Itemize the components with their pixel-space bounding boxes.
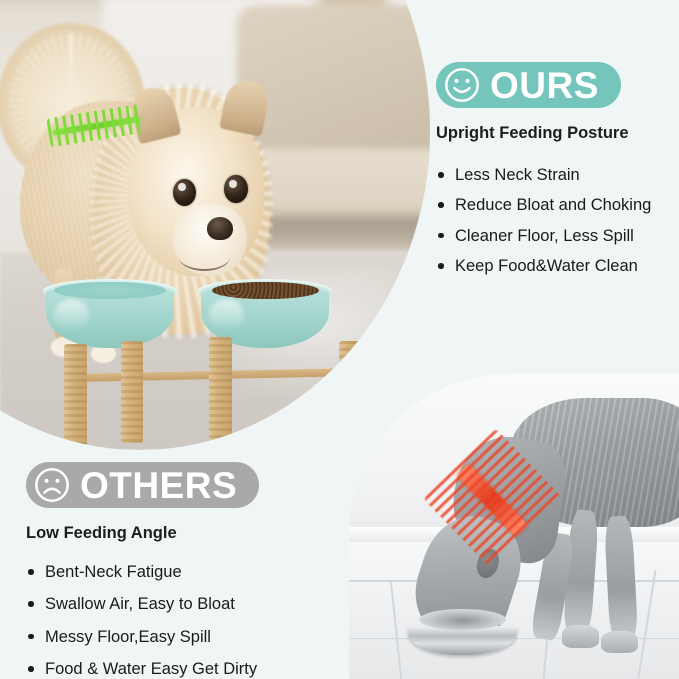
bullet-icon [28, 569, 34, 575]
list-item-label: Bent-Neck Fatigue [45, 563, 182, 581]
ours-badge: OURS [436, 62, 621, 108]
list-item-label: Keep Food&Water Clean [455, 257, 638, 275]
list-item-label: Less Neck Strain [455, 166, 580, 184]
ours-feature-list: Less Neck Strain Reduce Bloat and Chokin… [436, 163, 674, 279]
stand-leg [64, 344, 87, 447]
tile-grout-line [390, 580, 402, 678]
water-bowl [43, 279, 177, 351]
list-item: Swallow Air, Easy to Bloat [26, 592, 356, 616]
list-item-label: Swallow Air, Easy to Bloat [45, 595, 235, 613]
list-item: Cleaner Floor, Less Spill [436, 224, 674, 248]
list-item: Bent-Neck Fatigue [26, 560, 356, 584]
bullet-icon [438, 202, 444, 208]
comparison-infographic: OURS Upright Feeding Posture Less Neck S… [0, 0, 679, 679]
others-text-panel: OTHERS Low Feeding Angle Bent-Neck Fatig… [26, 462, 356, 679]
smiley-face-icon [443, 66, 481, 104]
floor-level-steel-bowl [408, 609, 517, 655]
list-item: Food & Water Easy Get Dirty [26, 657, 356, 679]
bullet-icon [28, 666, 34, 672]
list-item-label: Food & Water Easy Get Dirty [45, 660, 257, 678]
dog-leg [604, 515, 639, 640]
list-item-label: Messy Floor,Easy Spill [45, 628, 211, 646]
sad-face-icon [33, 466, 71, 504]
dog-ear [219, 78, 271, 138]
dog-nose [207, 217, 233, 240]
dog-paw [601, 631, 638, 653]
list-item: Less Neck Strain [436, 163, 674, 187]
bullet-icon [28, 634, 34, 640]
bowl-water-content [54, 282, 167, 299]
others-badge: OTHERS [26, 462, 259, 508]
bullet-icon [28, 601, 34, 607]
dog-eye [224, 175, 247, 203]
list-item: Messy Floor,Easy Spill [26, 625, 356, 649]
others-comparison-photo [349, 374, 679, 679]
ours-subtitle: Upright Feeding Posture [436, 124, 674, 143]
bowl-food-content [212, 282, 319, 299]
stand-leg [209, 337, 232, 440]
elevated-bowl-stand [43, 279, 396, 450]
ours-text-panel: OURS Upright Feeding Posture Less Neck S… [436, 62, 674, 285]
list-item: Reduce Bloat and Choking [436, 193, 674, 217]
list-item-label: Reduce Bloat and Choking [455, 196, 651, 214]
bullet-icon [438, 172, 444, 178]
list-item-label: Cleaner Floor, Less Spill [455, 227, 634, 245]
list-item: Keep Food&Water Clean [436, 254, 674, 278]
bullet-icon [438, 233, 444, 239]
others-feature-list: Bent-Neck Fatigue Swallow Air, Easy to B… [26, 560, 356, 679]
others-badge-label: OTHERS [80, 467, 237, 504]
stand-leg [121, 341, 144, 444]
dog-paw [562, 625, 599, 647]
others-subtitle: Low Feeding Angle [26, 524, 356, 543]
ours-badge-label: OURS [490, 67, 599, 104]
bullet-icon [438, 263, 444, 269]
